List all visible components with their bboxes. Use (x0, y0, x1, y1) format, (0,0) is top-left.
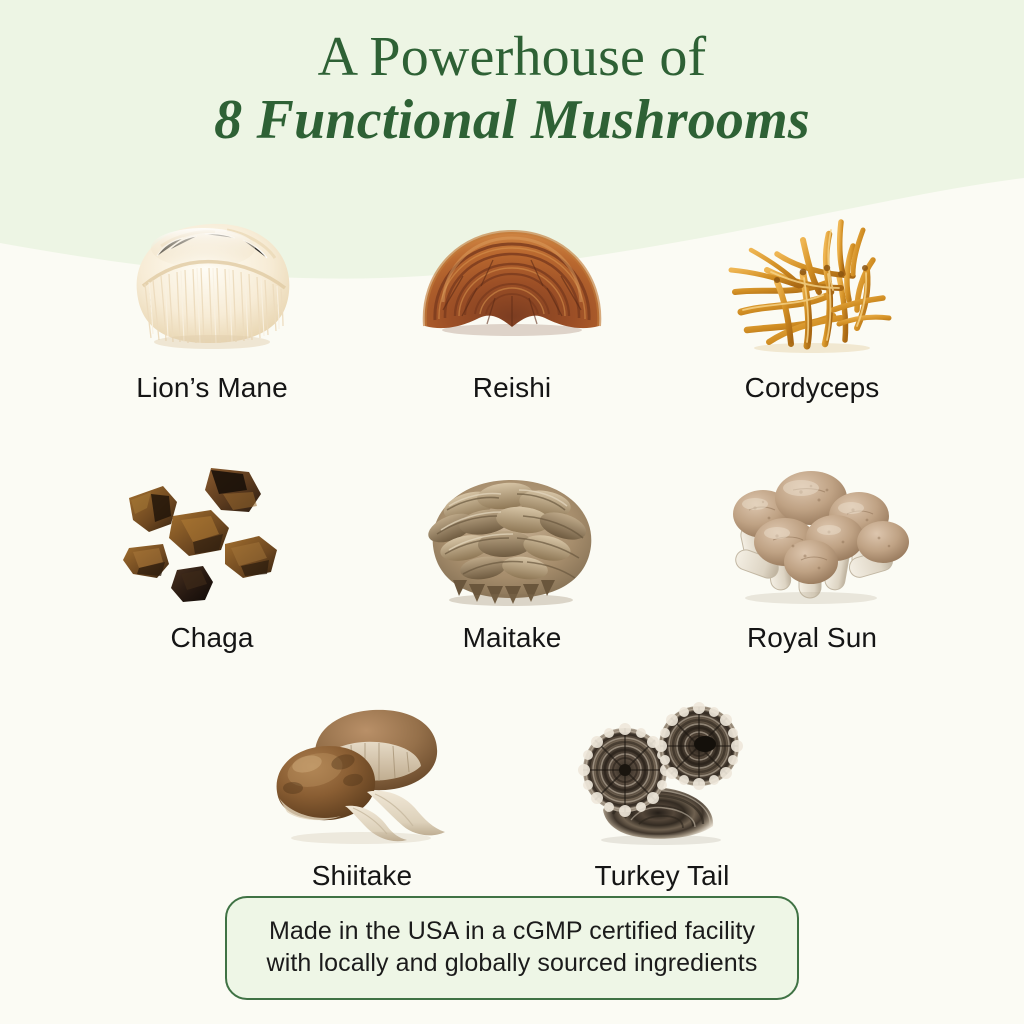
mushroom-label: Lion’s Mane (136, 372, 288, 404)
mushroom-row-3: Shiitake (0, 688, 1024, 892)
mushroom-label: Cordyceps (745, 372, 880, 404)
chaga-mushroom-image (107, 450, 317, 610)
mushroom-label: Shiitake (312, 860, 412, 892)
chaga-chunk (123, 544, 169, 578)
mushroom-label: Royal Sun (747, 622, 877, 654)
chaga-chunk (205, 468, 261, 512)
turkey-tail-rosette (655, 702, 743, 790)
cordyceps-mushroom-image (707, 200, 917, 360)
turkey-tail-mushroom-image (557, 688, 767, 848)
header: A Powerhouse of 8 Functional Mushrooms (0, 28, 1024, 153)
chaga-chunk (129, 486, 177, 532)
mushroom-card-chaga: Chaga (62, 450, 362, 654)
mushroom-label: Reishi (473, 372, 551, 404)
mushroom-card-maitake: Maitake (362, 450, 662, 654)
headline-line-1: A Powerhouse of (0, 28, 1024, 87)
mushroom-label: Turkey Tail (595, 860, 730, 892)
chaga-chunk (169, 510, 229, 556)
mushroom-label: Maitake (463, 622, 562, 654)
infographic-canvas: A Powerhouse of 8 Functional Mushrooms (0, 0, 1024, 1024)
chaga-chunk (171, 566, 213, 602)
headline-line-2: 8 Functional Mushrooms (0, 87, 1024, 153)
mushroom-card-turkey-tail: Turkey Tail (512, 688, 812, 892)
royal-sun-mushroom-image (707, 450, 917, 610)
made-in-usa-badge: Made in the USA in a cGMP certified faci… (225, 896, 799, 1000)
mushroom-card-royal-sun: Royal Sun (662, 450, 962, 654)
badge-line-1: Made in the USA in a cGMP certified faci… (251, 915, 773, 947)
mushroom-grid: Lion’s Mane (0, 196, 1024, 892)
mushroom-row-1: Lion’s Mane (0, 200, 1024, 404)
shiitake-mushroom-image (257, 688, 467, 848)
mushroom-label: Chaga (170, 622, 253, 654)
mushroom-card-cordyceps: Cordyceps (662, 200, 962, 404)
badge-line-2: with locally and globally sourced ingred… (251, 947, 773, 979)
lions-mane-mushroom-image (107, 200, 317, 360)
mushroom-card-reishi: Reishi (362, 200, 662, 404)
mushroom-row-2: Chaga (0, 450, 1024, 654)
chaga-chunk (225, 536, 277, 578)
reishi-mushroom-image (407, 200, 617, 360)
footer-badge-container: Made in the USA in a cGMP certified faci… (0, 896, 1024, 1000)
mushroom-card-shiitake: Shiitake (212, 688, 512, 892)
maitake-mushroom-image (407, 450, 617, 610)
mushroom-card-lions-mane: Lion’s Mane (62, 200, 362, 404)
